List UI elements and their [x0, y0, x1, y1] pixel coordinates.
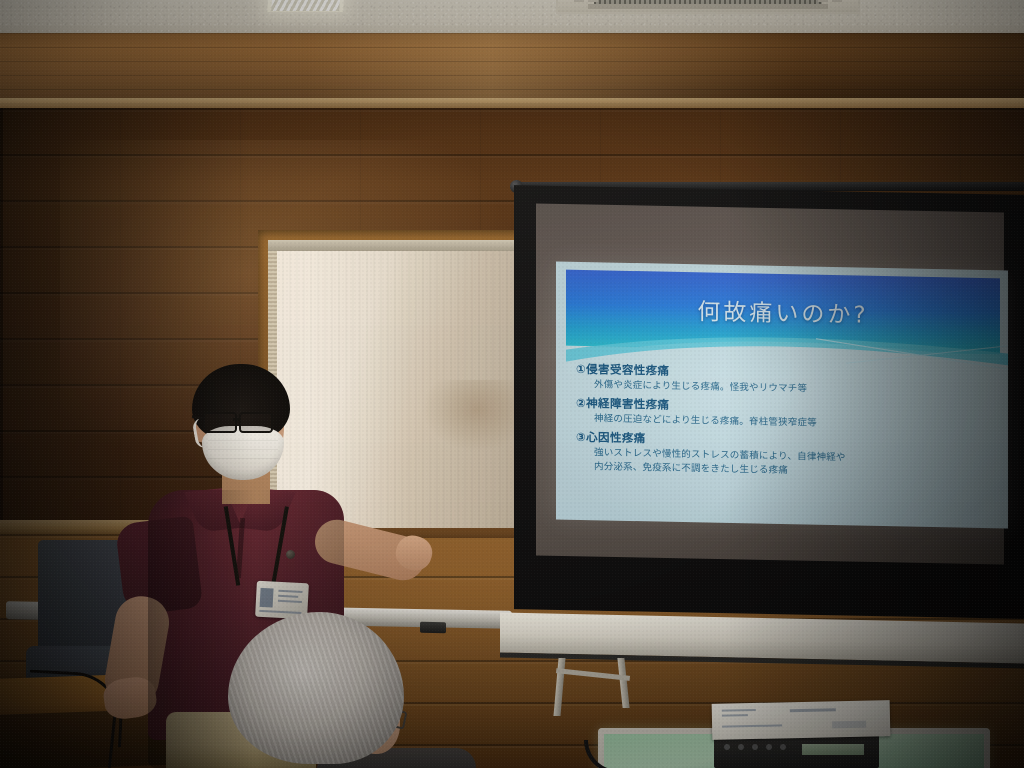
- doc-camera-button[interactable]: [780, 744, 786, 750]
- ac-lip: [588, 4, 828, 9]
- glasses-bridge: [233, 418, 241, 421]
- bullet-heading-text: 心因性疼痛: [586, 430, 646, 445]
- doc-camera-cable: [584, 740, 718, 768]
- slide-body: ①侵害受容性疼痛 外傷や炎症により生じる疼痛。怪我やリウマチ等 ②神経障害性疼痛…: [576, 358, 998, 483]
- doc-camera-display: [802, 744, 864, 755]
- blind-shadow: [422, 380, 514, 452]
- paper-document: [712, 700, 891, 740]
- air-conditioner-icon: [556, 0, 860, 14]
- face-mask-icon: [202, 426, 284, 480]
- glasses-icon: [239, 412, 273, 433]
- bullet-heading-text: 神経障害性疼痛: [586, 396, 669, 412]
- glasses-icon: [203, 412, 237, 433]
- ac-vane: [818, 0, 828, 2]
- bullet-marker: ③: [576, 429, 586, 443]
- slide-title: 何故痛いのか?: [566, 290, 1000, 333]
- ceiling-light-icon: [267, 0, 345, 12]
- lapel-pin-icon: [286, 550, 295, 559]
- ceiling-beam: [0, 33, 1024, 103]
- doc-camera-button[interactable]: [766, 744, 772, 750]
- audience-hair: [228, 612, 404, 764]
- doc-camera-button[interactable]: [738, 744, 744, 750]
- doc-camera-button[interactable]: [752, 744, 758, 750]
- bullet-marker: ①: [576, 362, 586, 376]
- audience-member: [228, 612, 448, 768]
- ac-vane: [588, 0, 598, 2]
- doc-camera-button[interactable]: [724, 744, 730, 750]
- bullet-heading-text: 侵害受容性疼痛: [586, 362, 669, 378]
- ac-vane: [574, 0, 584, 2]
- presentation-room-photo: 何故痛いのか? ①侵害受容性疼痛 外傷や炎症により生じる疼痛。怪我やリウマチ等 …: [0, 0, 1024, 768]
- slide-banner: 何故痛いのか?: [566, 270, 1000, 355]
- document-camera[interactable]: [584, 706, 1004, 768]
- blind-headrail: [268, 240, 520, 251]
- slide: 何故痛いのか? ①侵害受容性疼痛 外傷や炎症により生じる疼痛。怪我やリウマチ等 …: [556, 261, 1008, 528]
- bullet-marker: ②: [576, 396, 586, 410]
- ac-vane: [832, 0, 842, 2]
